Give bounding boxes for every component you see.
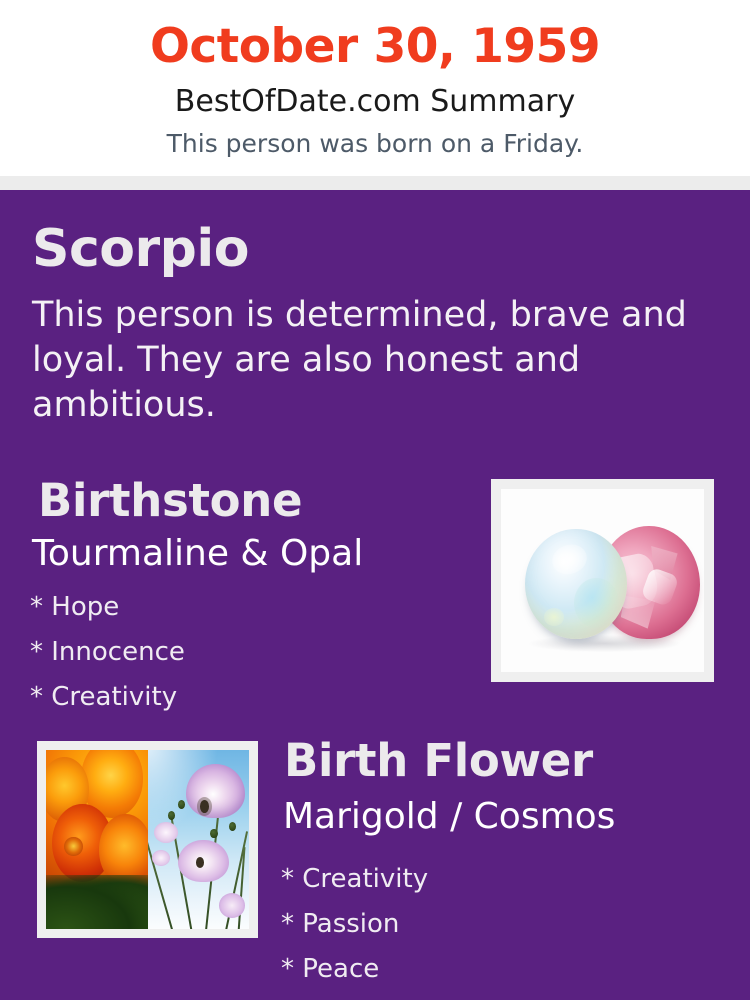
gem-facet [651,546,677,580]
marigold-photo-half [46,750,148,929]
card-header: October 30, 1959 BestOfDate.com Summary … [0,0,750,176]
site-summary-label: BestOfDate.com Summary [0,85,750,120]
birthstone-names: Tourmaline & Opal [32,534,482,574]
list-item: * Peace [281,947,711,992]
birthstone-traits-list: * Hope * Innocence * Creativity [30,585,460,720]
flower-bud [229,822,236,831]
list-item: * Innocence [30,630,460,675]
birth-flower-heading: Birth Flower [284,737,724,785]
cosmos-bloom [219,893,245,918]
header-divider [0,176,750,190]
birthstone-heading: Birthstone [38,477,468,525]
marigold-foliage [46,875,148,929]
list-item: * Creativity [281,857,711,902]
gem-highlight [544,608,564,626]
birth-flower-traits-list: * Creativity * Passion * Peace [281,857,711,992]
birthstone-image-frame [491,479,714,682]
page-title: October 30, 1959 [0,22,750,73]
list-item: * Hope [30,585,460,630]
list-item: * Passion [281,902,711,947]
cosmos-bloom [152,850,170,866]
zodiac-sign-heading: Scorpio [32,222,632,277]
born-day-text: This person was born on a Friday. [0,130,750,159]
zodiac-description: This person is determined, brave and loy… [32,293,702,427]
cosmos-bloom [154,822,178,843]
birth-flower-image [46,750,249,929]
cosmos-photo-half [148,750,250,929]
flower-bud [168,811,175,820]
flower-bud [210,829,217,838]
list-item: * Creativity [30,675,460,720]
birth-flower-names: Marigold / Cosmos [283,797,733,837]
marigold-center [64,837,82,856]
gem-facet [621,596,656,630]
birthstone-image [501,489,704,672]
opal-gem-icon [525,529,627,639]
summary-card: October 30, 1959 BestOfDate.com Summary … [0,0,750,1000]
flower-bud [178,800,185,809]
cosmos-bloom [186,764,245,818]
birth-flower-image-frame [37,741,258,938]
